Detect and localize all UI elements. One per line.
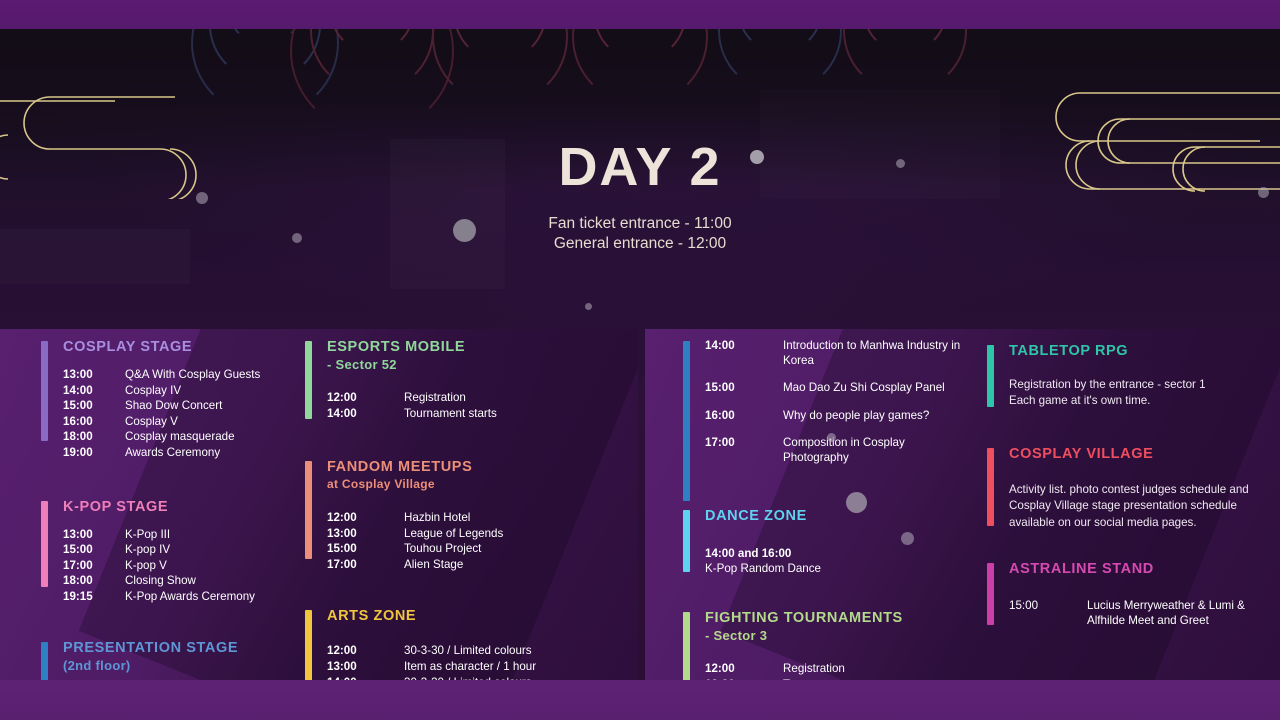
session-row: 15:00Shao Dow Concert — [63, 399, 300, 414]
session-row: 19:00Awards Ceremony — [63, 446, 300, 461]
section-title: COSPLAY VILLAGE — [1009, 446, 1280, 464]
session-desc: Why do people play games? — [783, 409, 965, 424]
session-row: 15:00Mao Dao Zu Shi Cosplay Panel — [705, 381, 965, 396]
session-row: 15:00 Lucius Merryweather & Lumi & Alfhi… — [1009, 599, 1280, 628]
session-desc: Cosplay V — [125, 415, 300, 430]
accent-bar-tabletop-rpg — [987, 345, 994, 407]
session-row: 13:00League of Legends — [327, 527, 600, 542]
session-row: 18:00Cosplay masquerade — [63, 430, 300, 445]
bokeh-dot — [585, 303, 592, 310]
section-dance-zone[interactable]: DANCE ZONE 14:00 and 16:00 K-Pop Random … — [683, 508, 965, 577]
poster-header: DAY 2 Fan ticket entrance - 11:00 Genera… — [0, 139, 1280, 255]
session-time: 16:00 — [705, 409, 783, 424]
session-row: 19:15K-Pop Awards Ceremony — [63, 590, 300, 605]
session-row: 14:00Tournament starts — [327, 407, 600, 422]
section-cosplay-stage[interactable]: COSPLAY STAGE 13:00Q&A With Cosplay Gues… — [41, 339, 300, 461]
session-row: 17:00Composition in Cosplay Photography — [705, 436, 965, 465]
session-desc: Alien Stage — [404, 558, 600, 573]
section-arts-zone[interactable]: ARTS ZONE 12:0030-3-30 / Limited colours… — [305, 608, 600, 680]
section-note: Activity list. photo contest judges sche… — [1009, 482, 1267, 531]
session-desc: Closing Show — [125, 574, 300, 589]
session-row: 13:00K-Pop III — [63, 528, 300, 543]
section-presentation-stage[interactable]: PRESENTATION STAGE (2nd floor) 13:00 Fro… — [41, 640, 300, 680]
session-desc: Registration — [404, 391, 600, 406]
session-list: 12:0030-3-30 / Limited colours 13:00Item… — [327, 644, 600, 680]
session-desc: 30-3-30 / Limited colours — [404, 644, 600, 659]
section-title: ESPORTS MOBILE — [327, 339, 600, 357]
session-time: 19:15 — [63, 590, 125, 605]
session-time: 12:00 — [327, 391, 404, 406]
session-time: 19:00 — [63, 446, 125, 461]
top-frame-bar — [0, 0, 1280, 29]
accent-bar-arts-zone — [305, 610, 312, 680]
section-title: TABLETOP RPG — [1009, 343, 1280, 361]
session-row: 16:00Why do people play games? — [705, 409, 965, 424]
session-row: 12:00Hazbin Hotel — [327, 511, 600, 526]
section-title: FIGHTING TOURNAMENTS — [705, 610, 965, 628]
session-list: 12:00Hazbin Hotel 13:00League of Legends… — [327, 511, 600, 572]
session-desc: Awards Ceremony — [125, 446, 300, 461]
session-desc: Composition in Cosplay Photography — [783, 436, 965, 465]
accent-bar-fighting-tournaments — [683, 612, 690, 680]
session-row: 12:0030-3-30 / Limited colours — [327, 644, 600, 659]
session-desc: League of Legends — [404, 527, 600, 542]
schedule-panel-right: 14:00Introduction to Manhwa Industry in … — [645, 329, 1280, 680]
session-time: 17:00 — [63, 559, 125, 574]
session-time: 12:00 — [327, 644, 404, 659]
session-time: 13:00 — [327, 660, 404, 675]
section-cosplay-village[interactable]: COSPLAY VILLAGE Activity list. photo con… — [987, 446, 1280, 531]
session-desc: Shao Dow Concert — [125, 399, 300, 414]
section-title: PRESENTATION STAGE — [63, 640, 300, 658]
session-list: 12:00Registration 14:00Tournament starts — [327, 391, 600, 421]
section-presentation-stage-continued[interactable]: 14:00Introduction to Manhwa Industry in … — [683, 339, 965, 466]
section-note: Registration by the entrance - sector 1 … — [1009, 377, 1280, 410]
session-list: 15:00 Lucius Merryweather & Lumi & Alfhi… — [1009, 599, 1280, 628]
session-row: 17:00Alien Stage — [327, 558, 600, 573]
session-time: 15:00 — [1009, 599, 1087, 628]
session-row: 17:00K-pop V — [63, 559, 300, 574]
session-time: 14:00 — [327, 407, 404, 422]
session-time: 13:00 — [63, 528, 125, 543]
session-desc: Cosplay masquerade — [125, 430, 300, 445]
bottom-frame-bar — [0, 680, 1280, 720]
session-row: 13:00Item as character / 1 hour — [327, 660, 600, 675]
session-row: 18:00Closing Show — [63, 574, 300, 589]
session-row: 16:00Cosplay V — [63, 415, 300, 430]
section-title: ASTRALINE STAND — [1009, 561, 1280, 579]
session-desc: Mao Dao Zu Shi Cosplay Panel — [783, 381, 965, 396]
section-title: COSPLAY STAGE — [63, 339, 300, 357]
section-subtitle: (2nd floor) — [63, 658, 300, 674]
session-row: 12:00Registration — [327, 391, 600, 406]
session-row: 13:00Q&A With Cosplay Guests — [63, 368, 300, 383]
accent-bar-presentation-stage-continued — [683, 341, 690, 501]
schedule-panel-left: COSPLAY STAGE 13:00Q&A With Cosplay Gues… — [0, 329, 638, 680]
section-title: DANCE ZONE — [705, 508, 965, 526]
section-tabletop-rpg[interactable]: TABLETOP RPG Registration by the entranc… — [987, 343, 1280, 410]
accent-bar-presentation-stage — [41, 642, 48, 680]
session-desc: Tournament starts — [404, 407, 600, 422]
session-desc: Q&A With Cosplay Guests — [125, 368, 300, 383]
page-title: DAY 2 — [0, 139, 1280, 196]
poster-stage: DAY 2 Fan ticket entrance - 11:00 Genera… — [0, 29, 1280, 680]
bokeh-dot — [846, 492, 867, 513]
session-time: 18:00 — [63, 574, 125, 589]
session-time: 15:00 — [63, 543, 125, 558]
section-fandom-meetups[interactable]: FANDOM MEETUPS at Cosplay Village 12:00H… — [305, 459, 600, 572]
session-list: 14:00Introduction to Manhwa Industry in … — [705, 339, 965, 466]
schedule-column-2: ESPORTS MOBILE - Sector 52 12:00Registra… — [300, 329, 600, 680]
bokeh-dot — [901, 532, 914, 545]
schedule-column-4: TABLETOP RPG Registration by the entranc… — [965, 329, 1280, 680]
session-desc: Hazbin Hotel — [404, 511, 600, 526]
session-desc: Lucius Merryweather & Lumi & Alfhilde Me… — [1087, 599, 1280, 628]
section-title: K-POP STAGE — [63, 499, 300, 517]
session-row: 14:00 and 16:00 K-Pop Random Dance — [705, 546, 965, 577]
entrance-line-fan: Fan ticket entrance - 11:00 — [0, 214, 1280, 234]
session-row: 15:00Touhou Project — [327, 542, 600, 557]
session-time: 16:00 — [63, 415, 125, 430]
session-desc: Registration — [783, 662, 965, 677]
section-subtitle: at Cosplay Village — [327, 477, 600, 492]
session-row: 12:00Registration — [705, 662, 965, 677]
session-desc: Item as character / 1 hour — [404, 660, 600, 675]
session-time: 12:00 — [327, 511, 404, 526]
section-kpop-stage[interactable]: K-POP STAGE 13:00K-Pop III 15:00K-pop IV… — [41, 499, 300, 605]
accent-bar-cosplay-village — [987, 448, 994, 526]
section-esports-mobile[interactable]: ESPORTS MOBILE - Sector 52 12:00Registra… — [305, 339, 600, 421]
session-desc: K-Pop Awards Ceremony — [125, 590, 300, 605]
session-desc: Cosplay IV — [125, 384, 300, 399]
section-title: FANDOM MEETUPS — [327, 459, 600, 477]
bokeh-dot — [827, 433, 836, 442]
session-list: 13:00Q&A With Cosplay Guests 14:00Cospla… — [63, 368, 300, 461]
session-desc: Touhou Project — [404, 542, 600, 557]
session-desc: K-Pop Random Dance — [705, 561, 965, 576]
session-row: 14:00Cosplay IV — [63, 384, 300, 399]
session-time: 15:00 — [63, 399, 125, 414]
session-time: 18:00 — [63, 430, 125, 445]
section-subtitle: - Sector 3 — [705, 628, 965, 644]
accent-bar-astraline-stand — [987, 563, 994, 625]
session-time: 13:00 — [327, 527, 404, 542]
session-time: 17:00 — [327, 558, 404, 573]
section-subtitle: - Sector 52 — [327, 357, 600, 373]
session-row: 14:00Introduction to Manhwa Industry in … — [705, 339, 965, 368]
accent-bar-cosplay-stage — [41, 341, 48, 441]
session-time: 15:00 — [327, 542, 404, 557]
section-astraline-stand[interactable]: ASTRALINE STAND 15:00 Lucius Merryweathe… — [987, 561, 1280, 628]
session-desc: K-pop V — [125, 559, 300, 574]
session-list: 12:00Registration 13:30Tournament starts — [705, 662, 965, 680]
session-time: 12:00 — [705, 662, 783, 677]
accent-bar-kpop-stage — [41, 501, 48, 587]
session-row: 15:00K-pop IV — [63, 543, 300, 558]
session-time: 17:00 — [705, 436, 783, 451]
session-time: 13:00 — [63, 368, 125, 383]
accent-bar-fandom-meetups — [305, 461, 312, 559]
schedule-column-3: 14:00Introduction to Manhwa Industry in … — [645, 329, 965, 680]
session-desc: Introduction to Manhwa Industry in Korea — [783, 339, 965, 368]
entrance-info: Fan ticket entrance - 11:00 General entr… — [0, 214, 1280, 255]
section-fighting-tournaments[interactable]: FIGHTING TOURNAMENTS - Sector 3 12:00Reg… — [683, 610, 965, 680]
session-list: 13:00K-Pop III 15:00K-pop IV 17:00K-pop … — [63, 528, 300, 605]
entrance-line-general: General entrance - 12:00 — [0, 234, 1280, 254]
section-title: ARTS ZONE — [327, 608, 600, 626]
session-time: 14:00 — [705, 339, 783, 354]
session-time: 14:00 — [63, 384, 125, 399]
accent-bar-dance-zone — [683, 510, 690, 572]
schedule-column-1: COSPLAY STAGE 13:00Q&A With Cosplay Gues… — [0, 329, 300, 680]
session-desc: K-Pop III — [125, 528, 300, 543]
accent-bar-esports-mobile — [305, 341, 312, 419]
session-time: 15:00 — [705, 381, 783, 396]
session-time: 14:00 and 16:00 — [705, 546, 965, 561]
session-desc: K-pop IV — [125, 543, 300, 558]
